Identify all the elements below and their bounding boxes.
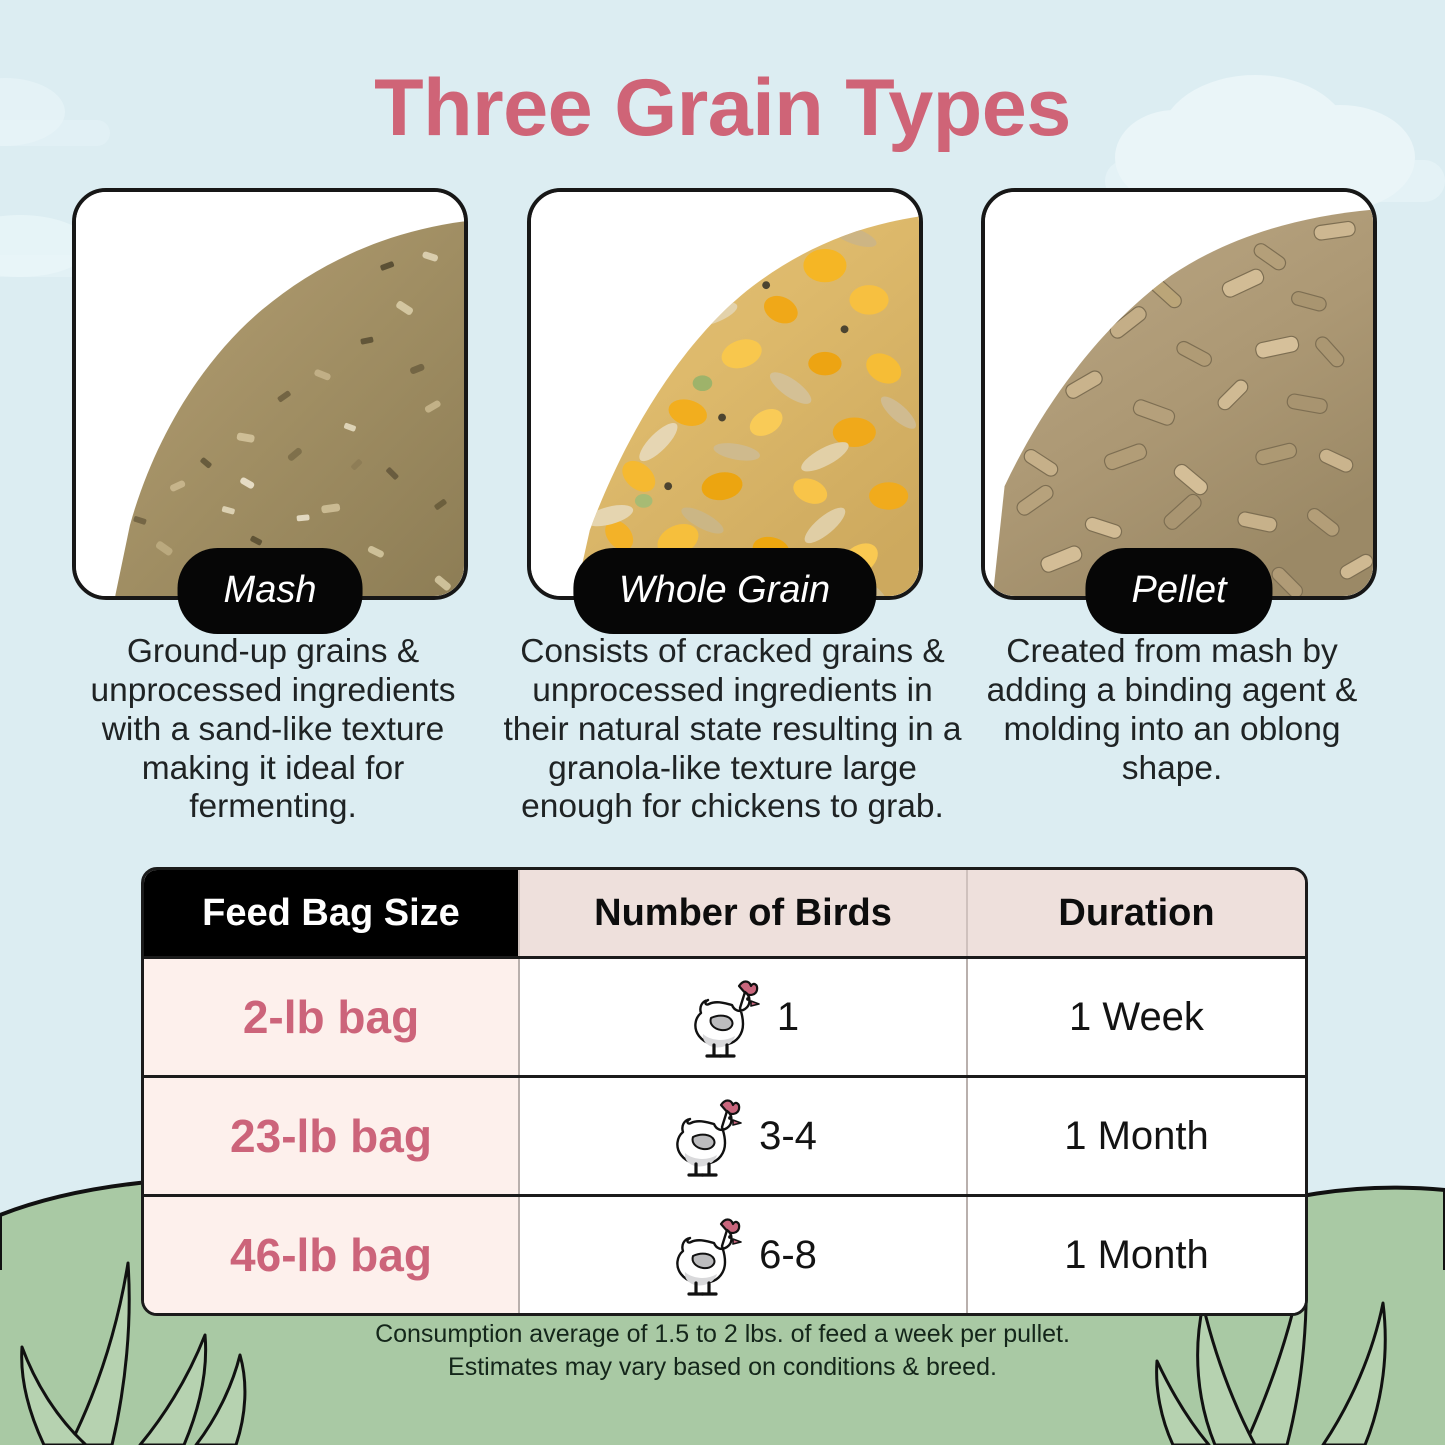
grain-description-whole-grain: Consists of cracked grains & unprocessed… <box>498 633 968 827</box>
cell-bag-size: 23-lb bag <box>144 1078 518 1194</box>
cell-duration: 1 Month <box>966 1197 1305 1313</box>
cell-bird-count: 3-4 <box>759 1114 817 1159</box>
feed-bag-table: Feed Bag Size Number of Birds Duration 2… <box>141 867 1308 1316</box>
cell-bag-size: 46-lb bag <box>144 1197 518 1313</box>
grain-description-pellet: Created from mash by adding a binding ag… <box>982 633 1362 827</box>
grain-description-mash: Ground-up grains & unprocessed ingredien… <box>63 633 483 827</box>
cell-number-of-birds: 6-8 <box>518 1197 966 1313</box>
grain-card-row: Mash <box>72 188 1377 600</box>
cell-bird-count: 1 <box>777 995 799 1040</box>
footnote-line-1: Consumption average of 1.5 to 2 lbs. of … <box>0 1318 1445 1351</box>
grain-label-whole-grain: Whole Grain <box>573 548 876 634</box>
header-number-of-birds: Number of Birds <box>518 870 966 956</box>
mash-grain-photo <box>72 188 468 600</box>
cell-bag-size: 2-lb bag <box>144 959 518 1075</box>
table-row: 23-lb bag <box>144 1075 1305 1194</box>
cell-number-of-birds: 3-4 <box>518 1078 966 1194</box>
header-feed-bag-size: Feed Bag Size <box>144 870 518 956</box>
grain-description-row: Ground-up grains & unprocessed ingredien… <box>55 633 1390 827</box>
page-title: Three Grain Types <box>0 62 1445 155</box>
footnote: Consumption average of 1.5 to 2 lbs. of … <box>0 1318 1445 1384</box>
footnote-line-2: Estimates may vary based on conditions &… <box>0 1351 1445 1384</box>
grain-card-pellet: Pellet <box>981 188 1377 600</box>
table-row: 46-lb bag <box>144 1194 1305 1313</box>
cell-duration: 1 Month <box>966 1078 1305 1194</box>
pellet-photo <box>981 188 1377 600</box>
grain-label-pellet: Pellet <box>1085 548 1272 634</box>
whole-grain-photo <box>527 188 923 600</box>
chicken-icon <box>669 1212 743 1298</box>
infographic-canvas: Three Grain Types <box>0 0 1445 1445</box>
grain-label-mash: Mash <box>178 548 363 634</box>
cell-number-of-birds: 1 <box>518 959 966 1075</box>
table-header-row: Feed Bag Size Number of Birds Duration <box>144 870 1305 956</box>
header-duration: Duration <box>966 870 1305 956</box>
chicken-icon <box>669 1093 743 1179</box>
cell-duration: 1 Week <box>966 959 1305 1075</box>
cell-bird-count: 6-8 <box>759 1233 817 1278</box>
chicken-icon <box>687 974 761 1060</box>
grain-card-whole-grain: Whole Grain <box>527 188 923 600</box>
grain-card-mash: Mash <box>72 188 468 600</box>
table-row: 2-lb bag <box>144 956 1305 1075</box>
